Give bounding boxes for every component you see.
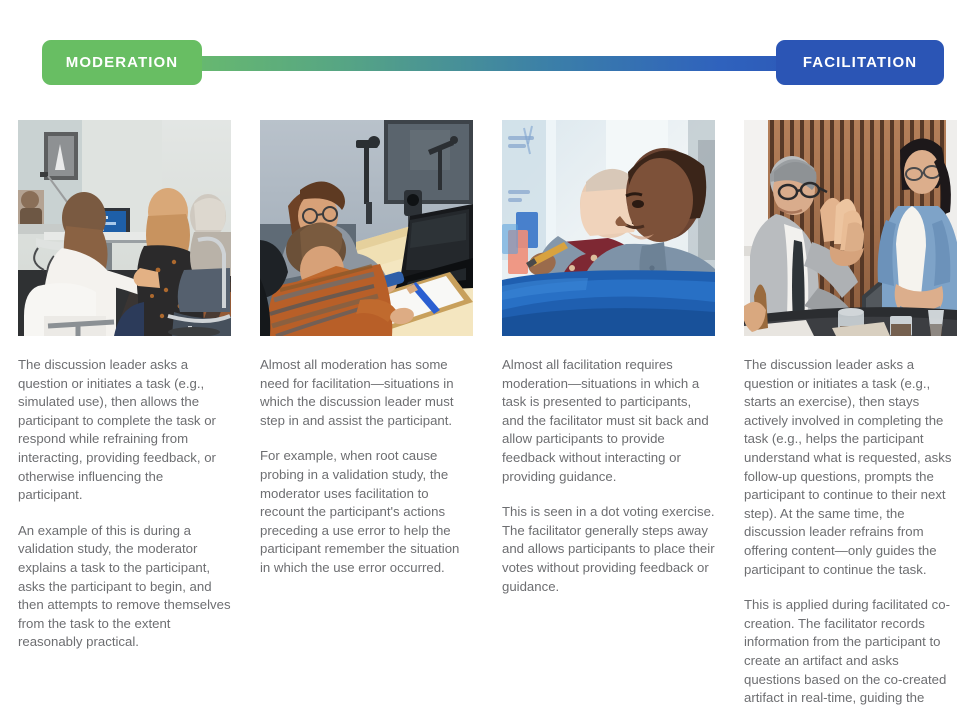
column-4: The discussion leader asks a question or…	[744, 120, 957, 709]
column-2-paragraph-2: For example, when root cause probing in …	[260, 447, 473, 577]
column-2-body: Almost all moderation has some need for …	[260, 336, 473, 578]
spectrum-label-moderation-text: MODERATION	[66, 54, 178, 71]
column-4-paragraph-1: The discussion leader asks a question or…	[744, 356, 957, 579]
spectrum-label-facilitation: FACILITATION	[776, 40, 944, 85]
column-3-paragraph-1: Almost all facilitation requires moderat…	[502, 356, 715, 486]
column-1: The discussion leader asks a question or…	[18, 120, 231, 709]
column-1-paragraph-2: An example of this is during a validatio…	[18, 522, 231, 652]
column-1-body: The discussion leader asks a question or…	[18, 336, 231, 652]
photo-moderated-simulated-use-session	[18, 120, 231, 336]
column-4-body: The discussion leader asks a question or…	[744, 336, 957, 709]
photo-facilitated-co-creation-meeting	[744, 120, 957, 336]
column-3-paragraph-2: This is seen in a dot voting exercise. T…	[502, 503, 715, 596]
column-3-body: Almost all facilitation requires moderat…	[502, 336, 715, 596]
column-2: Almost all moderation has some need for …	[260, 120, 473, 709]
column-1-paragraph-1: The discussion leader asks a question or…	[18, 356, 231, 505]
moderation-facilitation-spectrum-page: MODERATION FACILITATION	[0, 0, 980, 709]
spectrum-gradient-bar	[138, 56, 848, 71]
spectrum-label-moderation: MODERATION	[42, 40, 202, 85]
column-3: Almost all facilitation requires moderat…	[502, 120, 715, 709]
column-4-paragraph-2: This is applied during facilitated co-cr…	[744, 596, 957, 709]
photo-moderator-taking-notes-beside-participant	[260, 120, 473, 336]
spectrum-label-facilitation-text: FACILITATION	[803, 54, 917, 71]
content-columns: The discussion leader asks a question or…	[18, 120, 968, 709]
photo-dot-voting-whiteboard-exercise	[502, 120, 715, 336]
column-2-paragraph-1: Almost all moderation has some need for …	[260, 356, 473, 430]
spectrum-header: MODERATION FACILITATION	[42, 40, 944, 85]
